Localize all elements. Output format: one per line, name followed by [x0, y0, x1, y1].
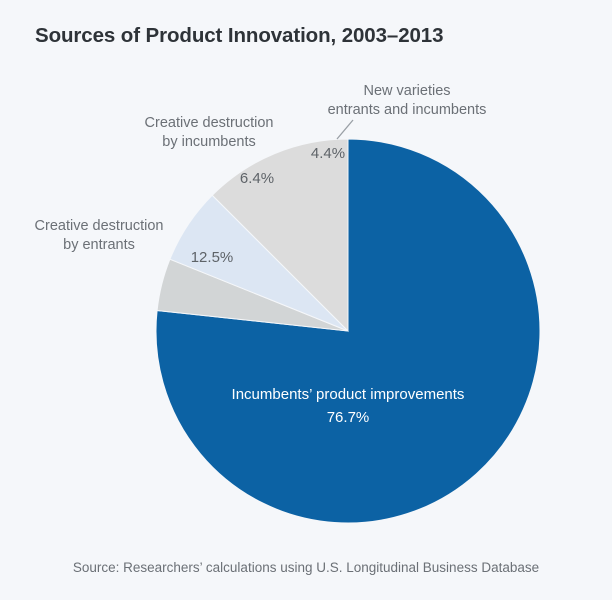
source-note: Source: Researchers’ calculations using …	[0, 560, 612, 575]
pie-chart-canvas	[0, 0, 612, 600]
slice-label-creative-destruction-incumbents: Creative destruction by incumbents	[120, 114, 298, 152]
slice-value-creative-destruction-entrants: 12.5%	[182, 249, 242, 266]
slice-label-new-varieties: New varieties entrants and incumbents	[314, 82, 500, 120]
pie-chart-figure: Sources of Product Innovation, 2003–2013…	[0, 0, 612, 600]
slice-value-new-varieties: 4.4%	[300, 145, 356, 162]
slice-value-creative-destruction-incumbents: 6.4%	[229, 170, 285, 187]
leader-line-new-varieties	[337, 120, 353, 139]
pie-slice-group	[156, 139, 540, 523]
slice-label-creative-destruction-entrants: Creative destruction by entrants	[10, 217, 188, 255]
pie-svg	[0, 0, 612, 600]
slice-label-incumbents-improvements: Incumbents’ product improvements 76.7%	[178, 383, 518, 429]
slice-value-incumbents-improvements: 76.7%	[178, 406, 518, 429]
slice-label-incumbents-improvements-text: Incumbents’ product improvements	[232, 386, 465, 403]
